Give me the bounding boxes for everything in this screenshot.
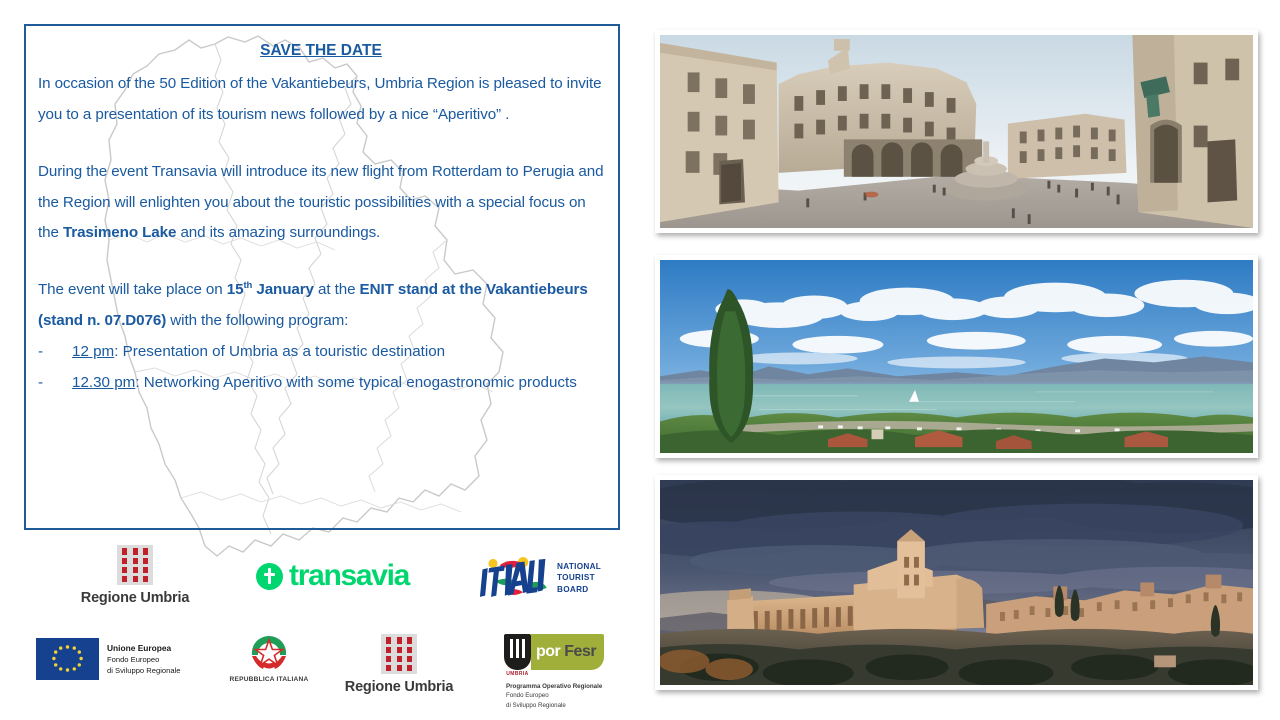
bullet-time: 12.30 pm — [72, 374, 135, 391]
eu-line-1: Unione Europea — [107, 642, 180, 654]
paragraph-intro-text: In occasion of the 50 Edition of the Vak… — [38, 75, 602, 123]
bullet-description: : Presentation of Umbria as a touristic … — [114, 343, 445, 360]
logo-transavia: transavia — [256, 561, 409, 591]
italia-wordmark-icon — [476, 555, 548, 601]
paragraph-event-bold-lake: Trasimeno Lake — [63, 224, 176, 241]
paragraph-event-part2: and its amazing surroundings. — [176, 224, 380, 241]
porfesr-sub-line-2: Fondo Europeo — [506, 691, 664, 700]
porfesr-sub-line-1: Programma Operativo Regionale — [506, 682, 664, 691]
logo-repubblica-italiana: REPUBBLICA ITALIANA — [229, 632, 309, 683]
paragraph-intro: In occasion of the 50 Edition of the Vak… — [38, 69, 604, 131]
porfesr-wordmark: por Fesr — [531, 634, 604, 670]
regione-umbria-icon — [117, 545, 153, 585]
paragraph-schedule-part3: with the following program: — [166, 312, 348, 329]
photo-lake-trasimeno — [655, 255, 1258, 458]
event-date: 15th January — [227, 281, 314, 298]
bullet-description: : Networking Aperitivo with some typical… — [135, 374, 576, 391]
italia-subtitle-line-3: BOARD — [557, 584, 601, 596]
paragraph-schedule: The event will take place on 15th Januar… — [38, 275, 604, 337]
porfesr-fesr-label: Fesr — [564, 644, 596, 660]
paragraph-event: During the event Transavia will introduc… — [38, 157, 604, 250]
italia-subtitle-line-2: TOURIST — [557, 572, 601, 584]
logo-regione-umbria-label-2: Regione Umbria — [324, 679, 474, 695]
unione-europea-text: Unione Europea Fondo Europeo di Sviluppo… — [107, 642, 180, 676]
logo-italia-national-tourist-board: NATIONAL TOURIST BOARD — [476, 555, 601, 601]
porfesr-sub-line-3: di Sviluppo Regionale — [506, 701, 664, 710]
event-date-day: 15 — [227, 281, 244, 298]
logo-por-fesr: UMBRIA por Fesr Programma Operativo Regi… — [504, 634, 664, 710]
repubblica-label: REPUBBLICA ITALIANA — [229, 676, 309, 683]
bullet-time: 12 pm — [72, 343, 114, 360]
invitation-panel: SAVE THE DATE In occasion of the 50 Edit… — [24, 24, 620, 530]
event-date-month: January — [252, 281, 314, 298]
paragraph-schedule-part1: The event will take place on — [38, 281, 227, 298]
page-title: SAVE THE DATE — [38, 42, 604, 59]
porfesr-shield-group: UMBRIA — [504, 634, 531, 677]
list-item: - 12.30 pm: Networking Aperitivo with so… — [38, 368, 604, 399]
paragraph-schedule-part2: at the — [314, 281, 360, 298]
eu-line-2: Fondo Europeo — [107, 654, 180, 665]
event-date-ordinal: th — [243, 280, 252, 291]
logo-row-primary: Regione Umbria transavia — [24, 543, 624, 617]
bullet-content: 12 pm: Presentation of Umbria as a touri… — [72, 337, 604, 368]
regione-umbria-icon — [381, 634, 417, 674]
eu-flag-icon — [36, 638, 99, 680]
eu-line-3: di Sviluppo Regionale — [107, 665, 180, 676]
bullet-dash: - — [38, 368, 72, 399]
italia-subtitle-line-1: NATIONAL — [557, 561, 601, 573]
transavia-icon — [256, 563, 283, 590]
umbria-shield-icon — [504, 634, 531, 670]
logo-transavia-label: transavia — [289, 561, 409, 591]
bullet-dash: - — [38, 337, 72, 368]
porfesr-shield-label: UMBRIA — [504, 671, 531, 677]
italia-subtitle: NATIONAL TOURIST BOARD — [557, 561, 601, 596]
logo-regione-umbria-secondary: Regione Umbria — [324, 634, 474, 695]
photo-perugia-piazza — [655, 30, 1258, 233]
list-item: - 12 pm: Presentation of Umbria as a tou… — [38, 337, 604, 368]
logo-unione-europea: Unione Europea Fondo Europeo di Sviluppo… — [36, 638, 180, 680]
photo-assisi-basilica — [655, 475, 1258, 690]
logo-regione-umbria-label: Regione Umbria — [60, 590, 210, 606]
logo-regione-umbria: Regione Umbria — [60, 545, 210, 606]
bullet-content: 12.30 pm: Networking Aperitivo with some… — [72, 368, 604, 399]
repubblica-emblem-icon — [229, 632, 309, 674]
porfesr-subtitle: Programma Operativo Regionale Fondo Euro… — [506, 682, 664, 710]
porfesr-por-label: por — [536, 644, 560, 660]
logo-row-funding: Unione Europea Fondo Europeo di Sviluppo… — [24, 630, 644, 710]
